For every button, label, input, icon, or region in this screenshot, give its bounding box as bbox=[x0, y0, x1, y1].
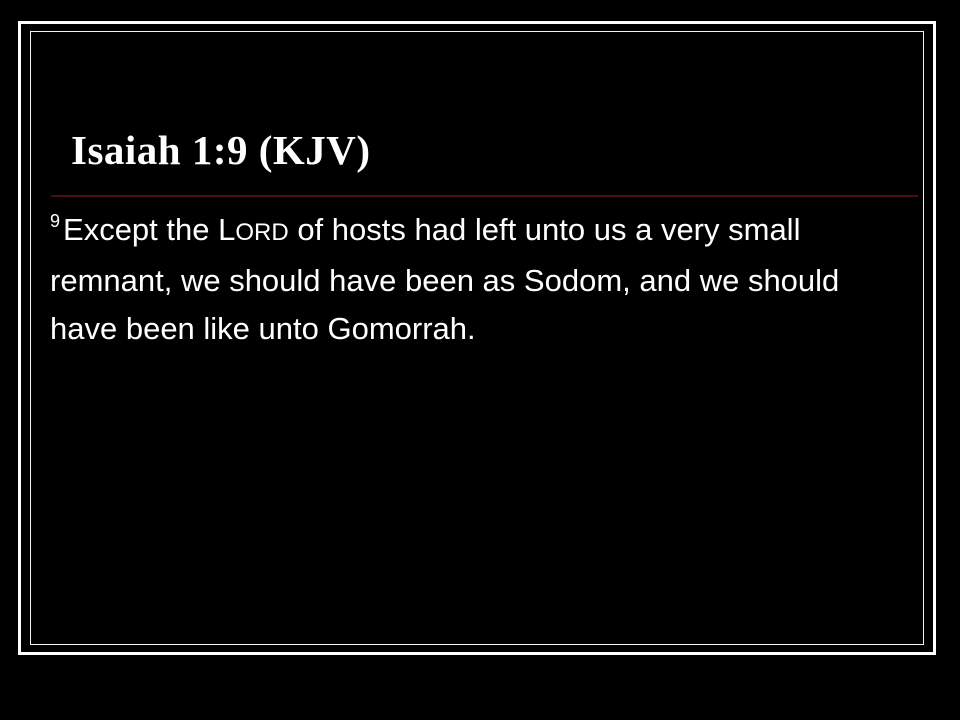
slide-content-area: Isaiah 1:9 (KJV) 9Except the LORD of hos… bbox=[21, 24, 939, 658]
verse-number: 9 bbox=[50, 211, 63, 231]
divine-name-smallcaps: ORD bbox=[235, 219, 288, 246]
verse-text-lead: Except the bbox=[63, 212, 218, 247]
verse-body-text: 9Except the LORD of hosts had left unto … bbox=[50, 206, 880, 353]
divine-name-lord: LORD bbox=[218, 212, 289, 247]
divine-name-capital: L bbox=[218, 212, 235, 247]
slide-title: Isaiah 1:9 (KJV) bbox=[71, 124, 921, 176]
title-divider-rule bbox=[51, 195, 918, 197]
slide-border-outer: Isaiah 1:9 (KJV) 9Except the LORD of hos… bbox=[18, 21, 936, 655]
slide-canvas: Isaiah 1:9 (KJV) 9Except the LORD of hos… bbox=[0, 0, 960, 720]
